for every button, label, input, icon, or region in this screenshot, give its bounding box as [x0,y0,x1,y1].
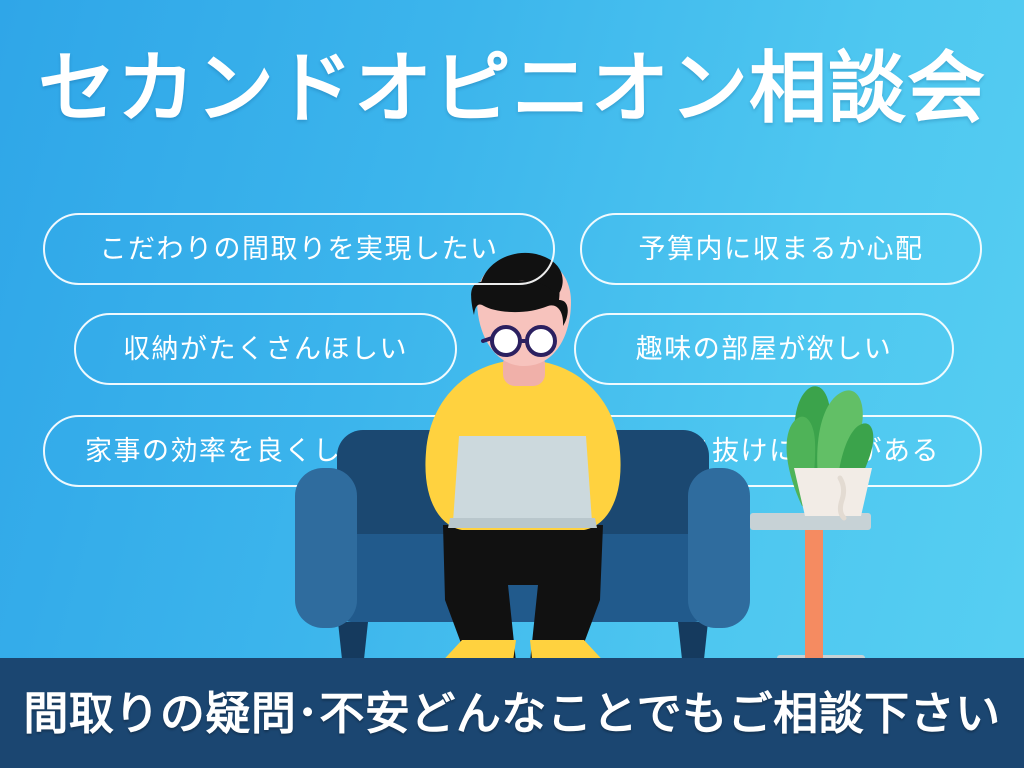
laptop-base [448,518,597,528]
concern-bubble-label: 予算内に収まるか心配 [639,236,924,263]
pants [443,525,603,662]
glasses-icon [483,327,555,355]
concern-bubble: 趣味の部屋が欲しい [574,313,954,385]
side-table-top [750,513,871,530]
concern-bubble: 家事の効率を良くしたい 吹き抜けに憧れがある [43,415,982,487]
sofa-arm-left [295,468,357,628]
banner-text: 間取りの疑問･不安どんなことでもご相談下さい [23,691,1000,736]
concern-bubble-label: こだわりの間取りを実現したい [100,236,499,263]
concern-bubble-label: 家事の効率を良くしたい [85,438,399,465]
sofa-seat [337,534,709,622]
page-title: セカンドオピニオン相談会 [0,40,1024,136]
concern-bubble: こだわりの間取りを実現したい [43,213,555,285]
concern-bubble-label: 収納がたくさんほしい [123,336,408,363]
sofa-arm-right [688,468,750,628]
concern-bubble: 収納がたくさんほしい [74,313,457,385]
concern-bubble-label: 吹き抜けに憧れがある [655,438,940,465]
concern-bubble: 予算内に収まるか心配 [580,213,982,285]
bottom-banner: 間取りの疑問･不安どんなことでもご相談下さい [0,658,1024,768]
neck [503,352,545,386]
side-table [750,513,871,671]
slide-canvas: セカンドオピニオン相談会 こだわりの間取りを実現したい 予算内に収まるか心配 収… [0,0,1024,768]
side-table-stem [805,519,823,659]
concern-bubble-label: 趣味の部屋が欲しい [636,336,893,363]
